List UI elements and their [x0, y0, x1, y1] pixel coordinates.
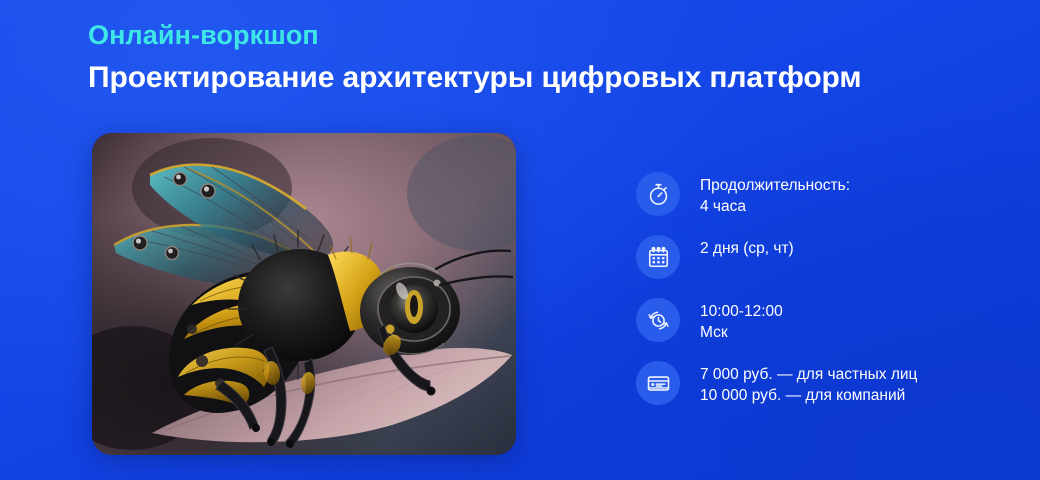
- credit-card-icon: [646, 371, 671, 396]
- calendar-icon: [646, 245, 671, 270]
- credit-card-icon-wrapper: [636, 361, 680, 405]
- detail-row-time: 10:00-12:00 Мск: [636, 298, 1016, 346]
- workshop-banner: Онлайн-воркшоп Проектирование архитектур…: [0, 0, 1040, 480]
- detail-line2: 4 часа: [700, 196, 850, 217]
- detail-text-time: 10:00-12:00 Мск: [700, 298, 783, 343]
- detail-line2: 10 000 руб. — для компаний: [700, 385, 917, 406]
- detail-row-days: 2 дня (ср, чт): [636, 235, 1016, 283]
- stopwatch-icon: [646, 182, 671, 207]
- detail-row-price: 7 000 руб. — для частных лиц 10 000 руб.…: [636, 361, 1016, 409]
- clock-refresh-icon-wrapper: [636, 298, 680, 342]
- detail-line1: 7 000 руб. — для частных лиц: [700, 366, 917, 383]
- detail-line1: Продолжительность:: [700, 177, 850, 194]
- detail-line2: Мск: [700, 322, 783, 343]
- mechanical-bee-illustration: [92, 133, 516, 455]
- detail-line1: 2 дня (ср, чт): [700, 240, 794, 257]
- banner-eyebrow: Онлайн-воркшоп: [88, 18, 988, 52]
- detail-text-duration: Продолжительность: 4 часа: [700, 172, 850, 217]
- detail-line1: 10:00-12:00: [700, 303, 783, 320]
- clock-refresh-icon: [646, 308, 671, 333]
- detail-row-duration: Продолжительность: 4 часа: [636, 172, 1016, 220]
- banner-title: Проектирование архитектуры цифровых плат…: [88, 59, 988, 97]
- workshop-details-list: Продолжительность: 4 часа: [636, 172, 1016, 409]
- detail-text-days: 2 дня (ср, чт): [700, 235, 794, 259]
- banner-header: Онлайн-воркшоп Проектирование архитектур…: [88, 18, 988, 97]
- stopwatch-icon-wrapper: [636, 172, 680, 216]
- calendar-icon-wrapper: [636, 235, 680, 279]
- detail-text-price: 7 000 руб. — для частных лиц 10 000 руб.…: [700, 361, 917, 406]
- hero-image: [92, 133, 516, 455]
